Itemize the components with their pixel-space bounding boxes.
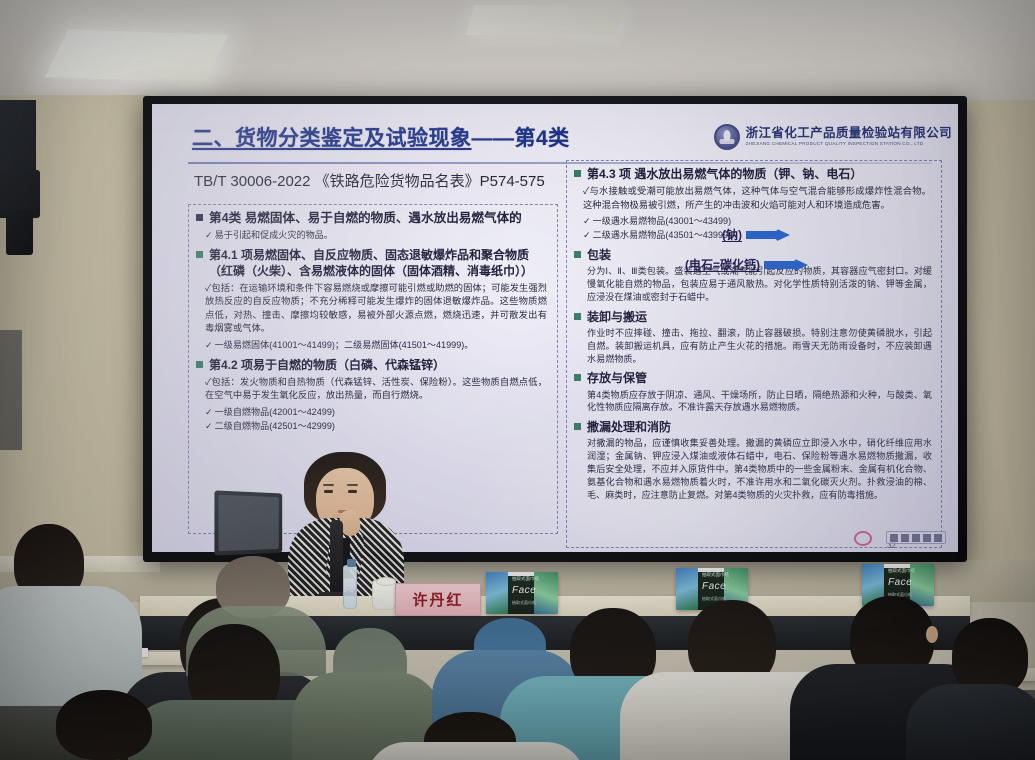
spill-body: 对撒漏的物品，应谨慎收集妥善处理。撒漏的黄磷应立即浸入水中，硝化纤维应用水润湿；… (587, 437, 932, 502)
bullet-square-icon (574, 374, 581, 381)
check-icon: ✓ (205, 230, 213, 240)
callout-sodium: (钠) (722, 226, 790, 243)
tissue-brand-top: 抽取式面巾纸 (512, 576, 539, 582)
projection-screen: 二、货物分类鉴定及试验现象——第4类 浙江省化工产品质量检验站有限公司 ZHEJ… (152, 104, 958, 552)
item-42-code2-text: 二级自燃物品(42501～42999) (215, 421, 335, 431)
item-41-body: ✓包括：在运输环境和条件下容易燃烧或摩擦可能引燃或助燃的固体；可能发生强烈放热反… (205, 282, 547, 336)
ppt-presenter-toolbar[interactable] (886, 531, 946, 544)
tissue-brand: Face (888, 577, 912, 588)
tissue-box: 抽取式面巾纸 Face 抽取式面巾纸 (486, 572, 558, 614)
bullet-square-icon (196, 251, 203, 258)
item-41-title: 第4.1 项易燃固体、自反应物质、固态退敏爆炸品和聚合物质（红磷（火柴）、含易燃… (209, 247, 550, 279)
presenter-eye-left (324, 490, 333, 493)
loading-heading: 装卸与搬运 (574, 309, 934, 325)
storage-heading: 存放与保管 (574, 370, 934, 386)
check-icon: ✓ (583, 216, 591, 226)
callout-sodium-label: (钠) (722, 226, 742, 243)
presenter-eye-right (348, 490, 357, 493)
class4-heading: 第4类 易燃固体、易于自燃的物质、遇水放出易燃气体的 (196, 210, 550, 227)
callout-carbide-label: (电石=碳化钙) (685, 256, 760, 273)
nameplate: 许丹红 (395, 583, 481, 616)
loading-body: 作业时不应摔碰、撞击、拖拉、翻滚，防止容器破损。特别注意勿使黄磷脱水，引起自燃。… (587, 327, 932, 366)
water-bottle (343, 565, 357, 609)
item-41-body-text: 包括：在运输环境和条件下容易燃烧或摩擦可能引燃或助燃的固体；可能发生强烈放热反应… (205, 283, 547, 333)
tissue-brand-sub: 抽取式面巾纸 (512, 600, 536, 606)
check-icon: ✓ (205, 407, 213, 417)
ceiling-light-panel-1 (45, 29, 229, 83)
bullet-square-icon (574, 313, 581, 320)
bullet-square-icon (574, 251, 581, 258)
company-emblem-icon (714, 124, 740, 150)
item-42-code1-text: 一级自燃物品(42001～42499) (215, 407, 335, 417)
item-42-body: ✓包括：发火物质和自热物质（代森锰锌、活性炭、保险粉）。这些物质自燃点低，在空气… (205, 376, 547, 403)
wall-right (955, 100, 1035, 570)
check-icon: ✓ (205, 421, 213, 431)
slide-title-main: 二、货物分类鉴定及试验现象 (192, 127, 472, 150)
pen-annotation-icon[interactable] (854, 531, 872, 546)
presenter-brow-right (347, 484, 358, 486)
item-41-heading: 第4.1 项易燃固体、自反应物质、固态退敏爆炸品和聚合物质（红磷（火柴）、含易燃… (196, 247, 550, 279)
nameplate-text: 许丹红 (412, 589, 463, 610)
tissue-brand: Face (702, 581, 726, 592)
item-43-body: ✓与水接触或受潮可能放出易燃气体，这种气体与空气混合能够形成爆炸性混合物。这种混… (583, 185, 931, 212)
item-43-title: 第4.3 项 遇水放出易燃气体的物质（钾、钠、电石） (587, 166, 862, 182)
packaging-title: 包装 (587, 247, 611, 263)
speaker-bracket (6, 210, 33, 255)
tissue-brand-top: 抽取式面巾纸 (888, 568, 915, 574)
laptop-screen (218, 495, 278, 552)
item-43-body-text: 与水接触或受潮可能放出易燃气体，这种气体与空气混合能够形成爆炸性混合物。这种混合… (583, 186, 931, 209)
wall-dark-panel-lower (0, 330, 22, 450)
company-name-cn: 浙江省化工产品质量检验站有限公司 (746, 127, 952, 140)
tea-cup (372, 580, 396, 610)
presenter-laptop (214, 490, 282, 555)
item-42-code2: ✓二级自燃物品(42501～42999) (205, 420, 548, 433)
class4-heading-check: ✓易于引起和促成火灾的物品。 (205, 229, 548, 242)
item-42-code1: ✓一级自燃物品(42001～42499) (205, 406, 548, 419)
zoom-icon[interactable] (923, 534, 931, 542)
class4-heading-text: 第4类 易燃固体、易于自燃的物质、遇水放出易燃气体的 (209, 210, 522, 227)
bullet-square-icon (574, 423, 581, 430)
company-name-en: ZHEJIANG CHEMICAL PRODUCT QUALITY INSPEC… (746, 141, 952, 147)
slide-grid-icon[interactable] (912, 534, 920, 542)
tissue-brand: Face (512, 585, 536, 596)
tissue-art-left (486, 572, 508, 614)
spill-title: 撒漏处理和消防 (587, 419, 671, 435)
class4-check-text: 易于引起和促成火灾的物品。 (215, 230, 333, 240)
check-icon: ✓ (205, 340, 213, 350)
classroom-photo-scene: 二、货物分类鉴定及试验现象——第4类 浙江省化工产品质量检验站有限公司 ZHEJ… (0, 0, 1035, 760)
ceiling-light-panel-2 (466, 5, 625, 35)
item-41-codes: ✓一级易燃固体(41001～41499)；二级易燃固体(41501～41999)… (205, 339, 548, 352)
item-42-heading: 第4.2 项易于自燃的物质（白磷、代森锰锌） (196, 357, 550, 373)
bottle-cap (347, 559, 356, 567)
company-logo: 浙江省化工产品质量检验站有限公司 ZHEJIANG CHEMICAL PRODU… (714, 124, 952, 150)
storage-body: 第4类物质应存放于阴凉、通风、干燥场所，防止日晒，隔绝热源和火种，与酸类、氧化性… (587, 389, 932, 415)
item-43-code1-text: 一级遇水易燃物品(43001～43499) (593, 216, 731, 226)
bullet-square-icon (574, 170, 581, 177)
arrow-right-icon (746, 228, 790, 241)
check-icon: ✓ (583, 230, 591, 240)
presenter-brow-left (323, 484, 334, 486)
bullet-square-icon (196, 361, 203, 368)
spill-heading: 撒漏处理和消防 (574, 419, 934, 435)
callout-carbide: (电石=碳化钙) (685, 256, 808, 273)
item-41-codes-text: 一级易燃固体(41001～41499)；二级易燃固体(41501～41999)。 (215, 340, 474, 350)
company-name-block: 浙江省化工产品质量检验站有限公司 ZHEJIANG CHEMICAL PRODU… (746, 127, 952, 146)
desk-microphone (330, 520, 343, 598)
tissue-art-left (676, 568, 698, 610)
standard-reference: TB/T 30006-2022 《铁路危险货物品名表》P574-575 (194, 170, 545, 191)
loading-title: 装卸与搬运 (587, 309, 647, 325)
arrow-right-icon (764, 258, 808, 271)
pen-icon[interactable] (890, 534, 898, 542)
item-43-code2-text: 二级遇水易燃物品(43501～43999) (593, 230, 731, 240)
bullet-square-icon (196, 214, 203, 221)
item-42-title: 第4.2 项易于自燃的物质（白磷、代森锰锌） (209, 357, 445, 373)
slide-right-column: 第4.3 项 遇水放出易燃气体的物质（钾、钠、电石） ✓与水接触或受潮可能放出易… (566, 160, 942, 548)
tissue-brand-top: 抽取式面巾纸 (702, 572, 729, 578)
wall-speaker (0, 170, 40, 218)
item-42-body-text: 包括：发火物质和自热物质（代森锰锌、活性炭、保险粉）。这些物质自燃点低，在空气中… (205, 377, 547, 400)
item-43-heading: 第4.3 项 遇水放出易燃气体的物质（钾、钠、电石） (574, 166, 934, 182)
storage-title: 存放与保管 (587, 370, 647, 386)
more-icon[interactable] (934, 534, 942, 542)
laser-pointer-icon[interactable] (901, 534, 909, 542)
slide-title-suffix: ——第4类 (472, 127, 570, 150)
